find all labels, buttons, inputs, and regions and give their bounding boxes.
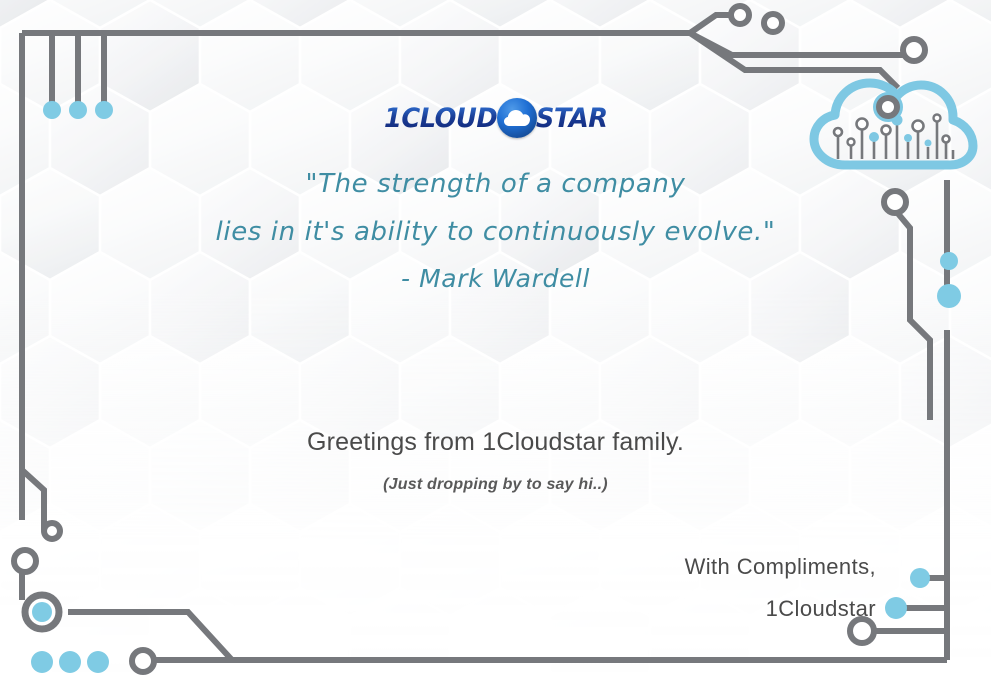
quote-author: - Mark Wardell (0, 256, 991, 302)
logo-text-right: STAR (536, 105, 608, 132)
signoff-line-2: 1Cloudstar (685, 588, 876, 630)
signoff-block: With Compliments, 1Cloudstar (685, 546, 876, 630)
quote-line-2: lies in it's ability to continuously evo… (0, 208, 991, 256)
greeting-main-text: Greetings from 1Cloudstar family. (0, 424, 991, 460)
quote-block: "The strength of a company lies in it's … (0, 160, 991, 302)
greeting-sub-text: (Just dropping by to say hi..) (0, 468, 991, 502)
signoff-line-1: With Compliments, (685, 546, 876, 588)
cloud-icon (497, 98, 537, 138)
greeting-block: Greetings from 1Cloudstar family. (Just … (0, 424, 991, 502)
brand-logo: 1CLOUD STAR (0, 96, 991, 140)
quote-line-1: "The strength of a company (0, 160, 991, 208)
logo-text-left: 1CLOUD (384, 105, 497, 132)
greeting-card: 1CLOUD STAR "The strength of a company l… (0, 0, 991, 691)
